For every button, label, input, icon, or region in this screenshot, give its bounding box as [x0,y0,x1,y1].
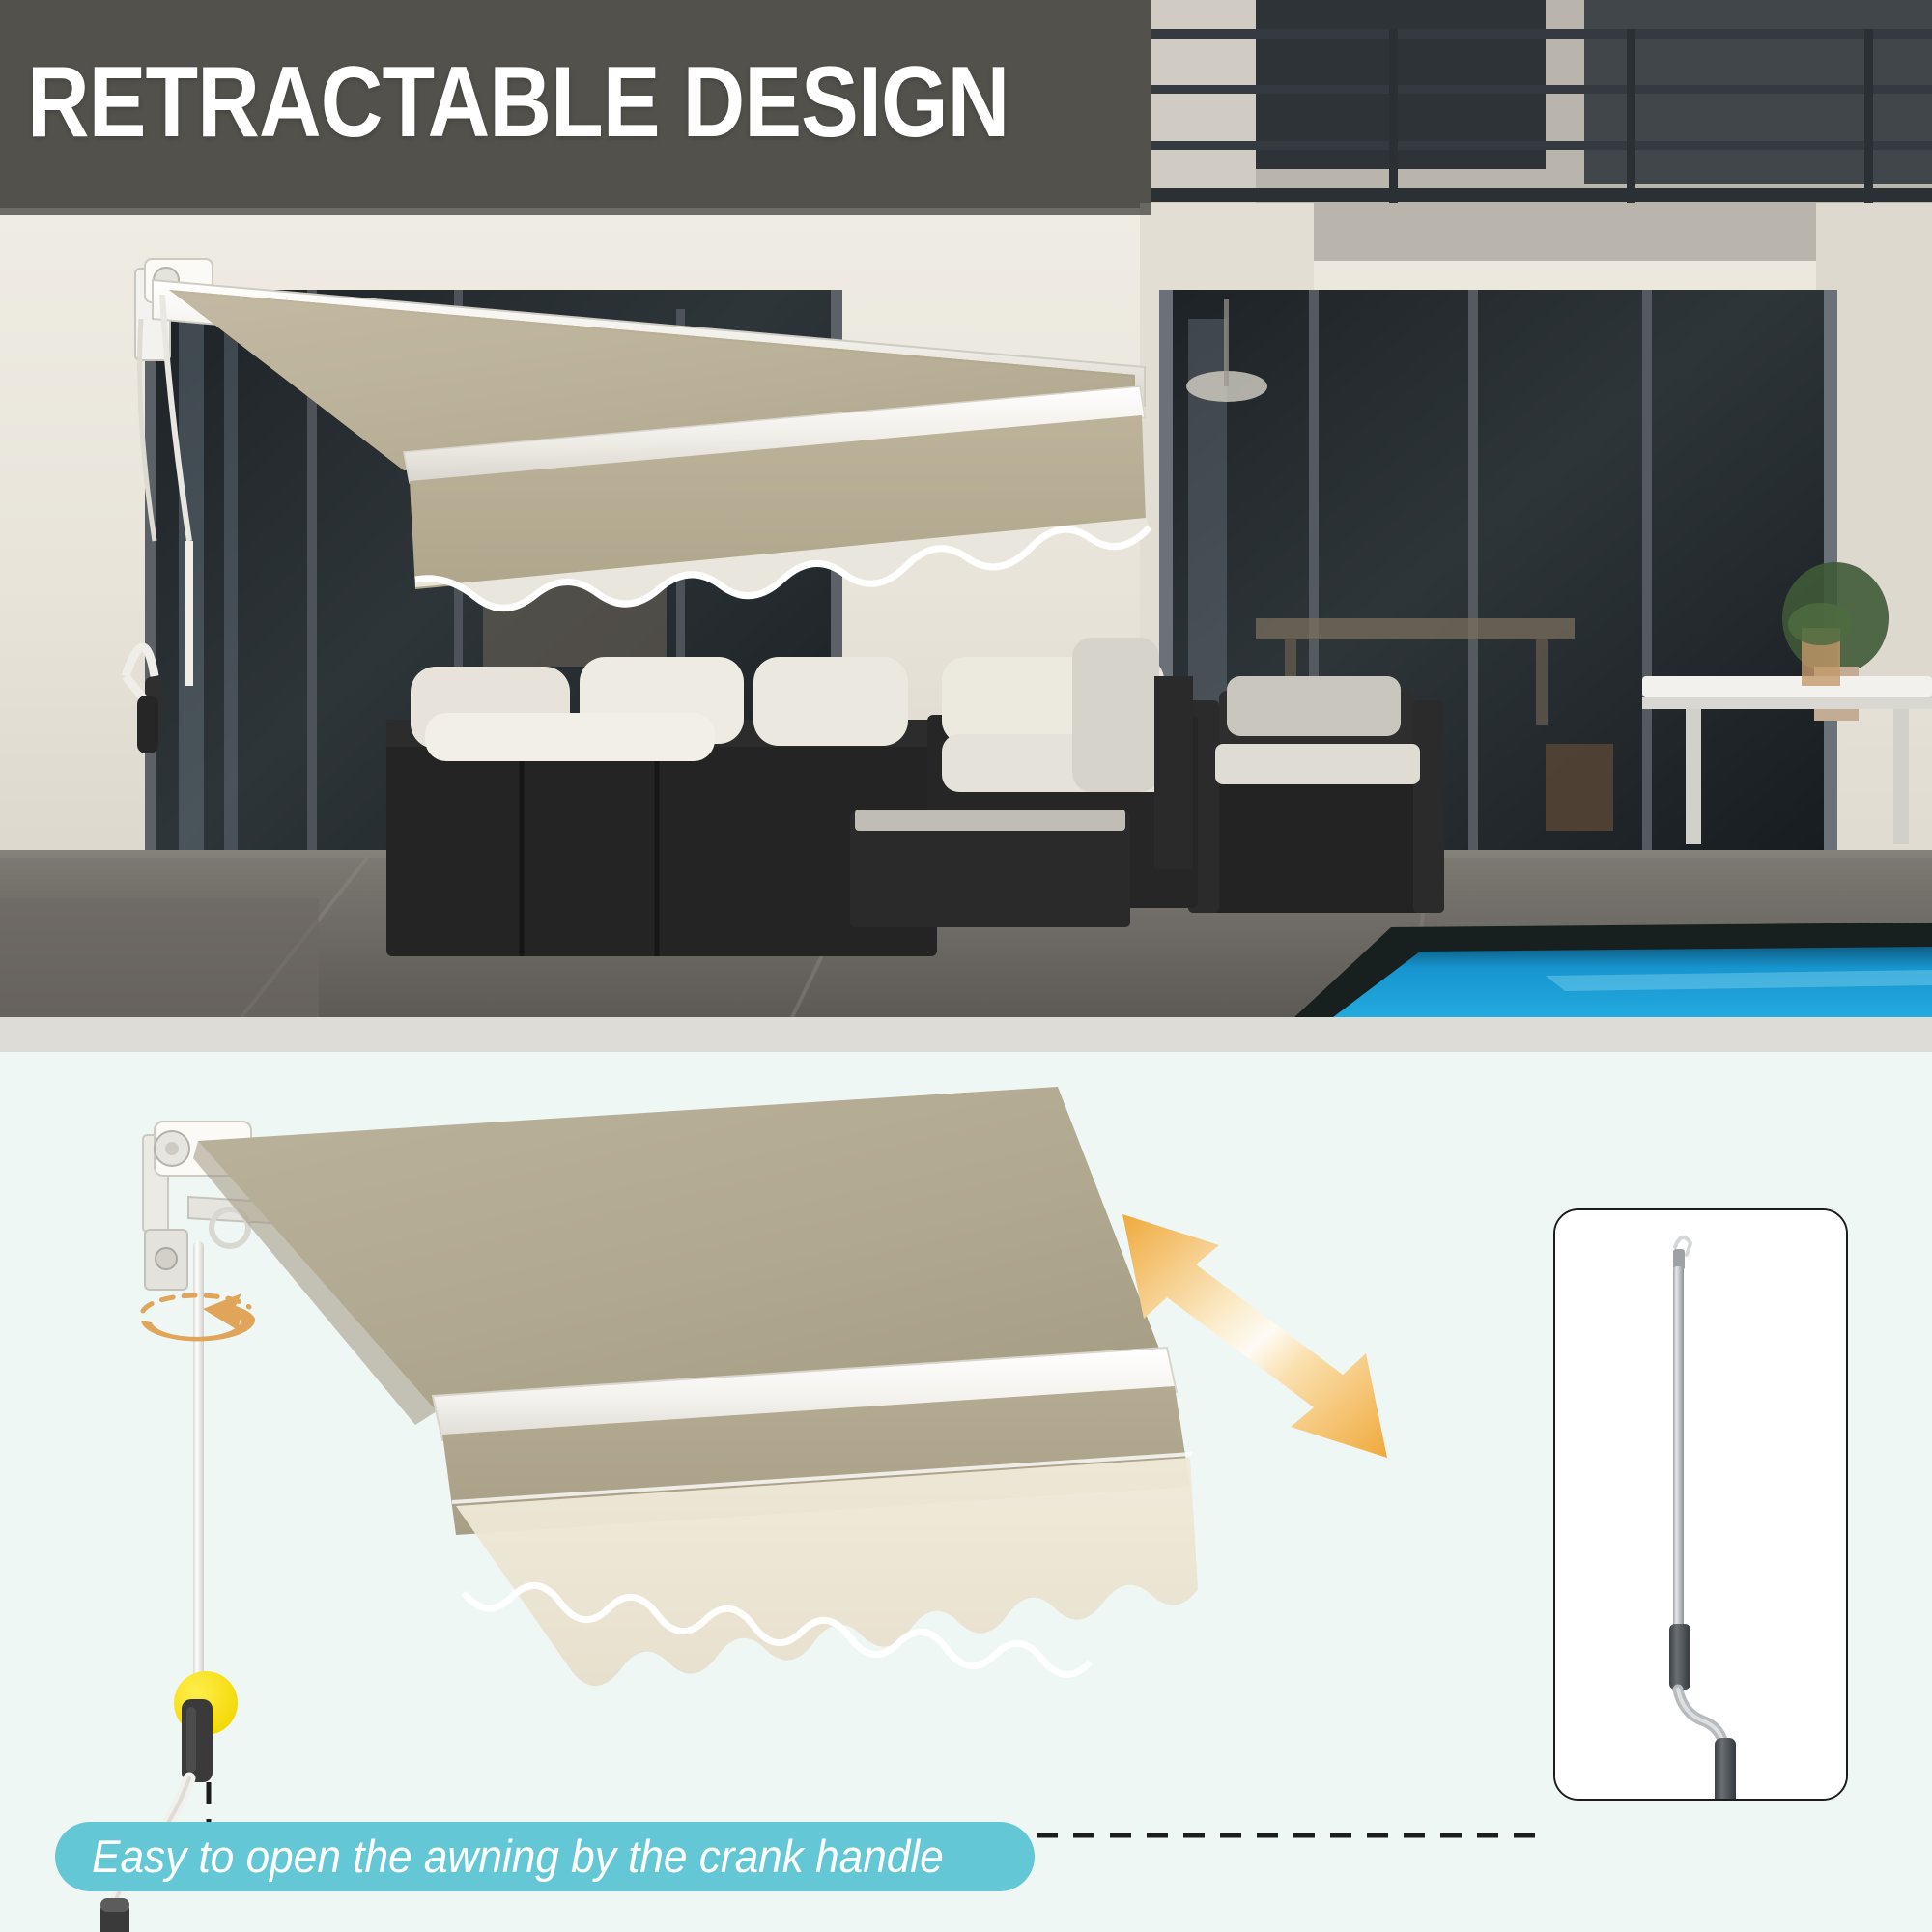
lifestyle-photo-section: RETRACTABLE DESIGN [0,0,1932,1017]
caption-pill: Easy to open the awning by the crank han… [55,1822,1035,1891]
header-title-band: RETRACTABLE DESIGN [0,0,1151,215]
product-infographic-page: RETRACTABLE DESIGN [0,0,1932,1932]
caption-text: Easy to open the awning by the crank han… [92,1833,944,1880]
crank-handle-product-inset [1553,1208,1848,1801]
diagram-section: Easy to open the awning by the crank han… [0,1052,1932,1932]
page-title: RETRACTABLE DESIGN [27,52,1009,153]
crank-handle-product-photo [1555,1210,1846,1799]
section-divider-strip [0,1017,1932,1052]
